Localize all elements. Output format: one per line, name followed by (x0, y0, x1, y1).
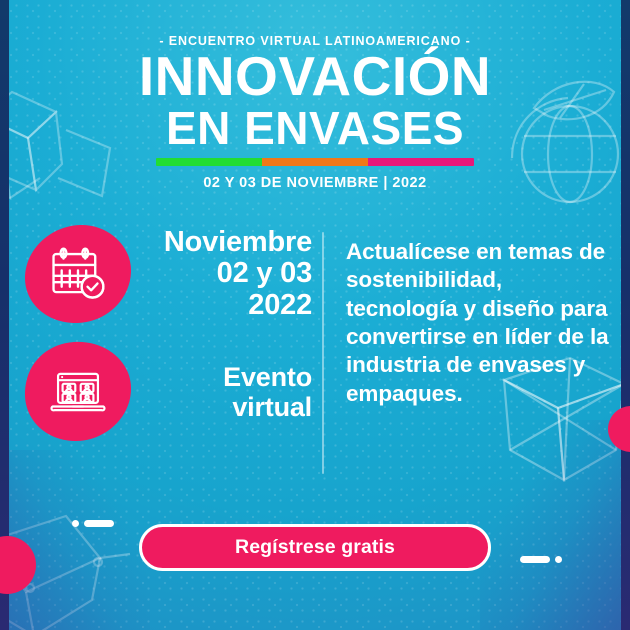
poster-content: Noviembre 02 y 03 2022 (0, 222, 630, 480)
tricolor-accent-bar (156, 158, 474, 166)
event-promo-poster: - ENCUENTRO VIRTUAL LATINOAMERICANO - IN… (0, 0, 630, 630)
feature-dates-line-3: 2022 (142, 290, 312, 322)
feature-item-virtual: Evento virtual (22, 340, 322, 444)
page-title-line2: EN ENVASES (0, 105, 630, 151)
features-column: Noviembre 02 y 03 2022 (0, 222, 322, 480)
poster-header: - ENCUENTRO VIRTUAL LATINOAMERICANO - IN… (0, 34, 630, 191)
page-title-line1: INNOVACIÓN (0, 50, 630, 103)
event-date-line: 02 Y 03 DE NOVIEMBRE | 2022 (0, 175, 630, 191)
colorbar-segment-green (156, 158, 262, 166)
colorbar-segment-magenta (368, 158, 474, 166)
colorbar-segment-orange (262, 158, 368, 166)
laptop-icon-badge (22, 340, 134, 444)
feature-virtual-line-2: virtual (142, 392, 312, 422)
feature-item-dates: Noviembre 02 y 03 2022 (22, 222, 322, 326)
feature-dates-line-1: Noviembre (142, 227, 312, 259)
feature-virtual-text: Evento virtual (142, 362, 322, 422)
register-free-button[interactable]: Regístrese gratis (139, 524, 491, 571)
feature-virtual-line-1: Evento (142, 362, 312, 392)
calendar-icon-badge (22, 222, 134, 326)
description-column: Actualícese en temas de sostenibilidad, … (324, 222, 630, 480)
feature-dates-text: Noviembre 02 y 03 2022 (142, 227, 322, 322)
calendar-check-icon (49, 245, 107, 303)
cta-row: Regístrese gratis (0, 516, 630, 578)
feature-dates-line-2: 02 y 03 (142, 258, 312, 290)
event-description: Actualícese en temas de sostenibilidad, … (346, 238, 616, 408)
laptop-video-conference-icon (49, 363, 107, 421)
